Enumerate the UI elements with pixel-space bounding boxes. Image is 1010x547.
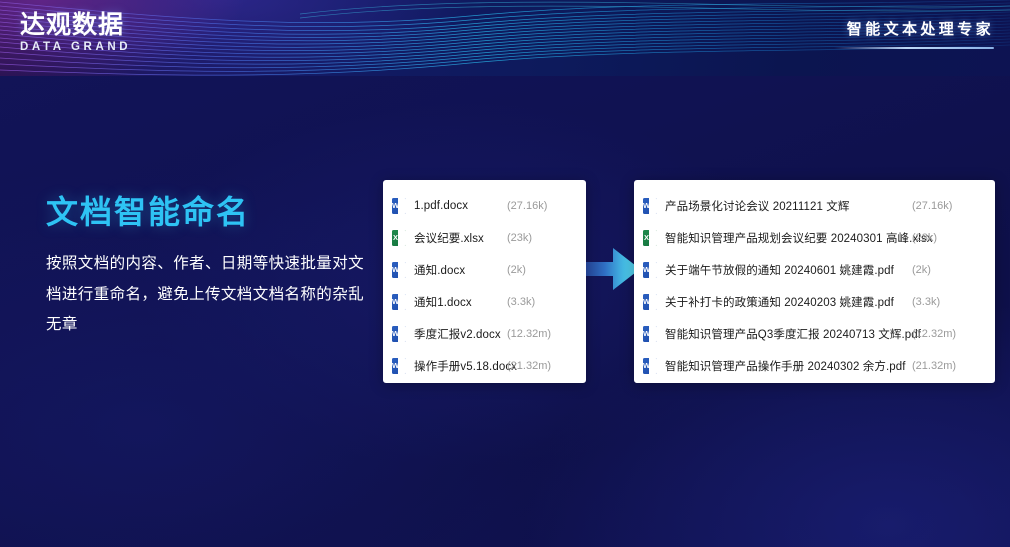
page-title: 文档智能命名 (46, 193, 366, 231)
word-file-icon: W (643, 294, 657, 310)
file-name: 通知1.docx (414, 294, 472, 310)
file-icon-page (649, 294, 657, 310)
file-name: 操作手册v5.18.docx (414, 358, 517, 374)
header-tagline-underline (834, 47, 994, 49)
file-icon-letter: W (643, 198, 650, 214)
brand-logo-en: DATA GRAND (20, 41, 131, 53)
arrow-right-svg (586, 244, 640, 294)
header-tagline: 智能文本处理专家 (834, 18, 994, 49)
file-row[interactable]: W通知.docx(2k) (383, 254, 586, 286)
file-size: (2k) (912, 263, 976, 277)
file-row[interactable]: X智能知识管理产品规划会议纪要 20240301 高峰.xlsx(23k) (634, 222, 995, 254)
file-name: 关于补打卡的政策通知 20240203 姚建霞.pdf (665, 294, 894, 310)
file-size: (3.3k) (507, 295, 571, 309)
file-icon-page (398, 230, 406, 246)
file-list-before-panel[interactable]: W1.pdf.docx(27.16k)X会议纪要.xlsx(23k)W通知.do… (383, 180, 586, 383)
file-icon-page (649, 230, 657, 246)
file-row[interactable]: W智能知识管理产品Q3季度汇报 20240713 文辉.pdf(12.32m) (634, 318, 995, 350)
file-name: 会议纪要.xlsx (414, 230, 484, 246)
excel-file-icon: X (392, 230, 406, 246)
word-file-icon: W (392, 358, 406, 374)
file-row[interactable]: W关于端午节放假的通知 20240601 姚建霞.pdf(2k) (634, 254, 995, 286)
word-file-icon: W (392, 262, 406, 278)
file-icon-letter: W (392, 294, 399, 310)
file-name: 1.pdf.docx (414, 200, 468, 212)
file-size: (23k) (912, 231, 976, 245)
file-icon-page (649, 198, 657, 214)
word-file-icon: W (392, 294, 406, 310)
file-size: (27.16k) (912, 199, 976, 213)
brand-logo-cn: 达观数据 (20, 12, 131, 38)
file-size: (21.32m) (912, 359, 976, 373)
file-icon-page (398, 358, 406, 374)
file-icon-page (398, 198, 406, 214)
file-row[interactable]: X会议纪要.xlsx(23k) (383, 222, 586, 254)
file-icon-page (398, 262, 406, 278)
file-name: 智能知识管理产品规划会议纪要 20240301 高峰.xlsx (665, 230, 933, 246)
file-name: 智能知识管理产品Q3季度汇报 20240713 文辉.pdf (665, 326, 921, 342)
excel-file-icon: X (643, 230, 657, 246)
file-name: 产品场景化讨论会议 20211121 文辉 (665, 198, 849, 214)
file-row[interactable]: W通知1.docx(3.3k) (383, 286, 586, 318)
word-file-icon: W (392, 198, 406, 214)
file-name: 关于端午节放假的通知 20240601 姚建霞.pdf (665, 262, 894, 278)
file-icon-page (398, 326, 406, 342)
file-row[interactable]: W关于补打卡的政策通知 20240203 姚建霞.pdf(3.3k) (634, 286, 995, 318)
word-file-icon: W (643, 326, 657, 342)
file-size: (3.3k) (912, 295, 976, 309)
file-name: 通知.docx (414, 262, 465, 278)
word-file-icon: W (643, 262, 657, 278)
file-icon-letter: W (392, 198, 399, 214)
file-icon-letter: W (643, 294, 650, 310)
file-size: (23k) (507, 231, 571, 245)
slide-root: 达观数据 DATA GRAND 智能文本处理专家 文档智能命名 按照文档的内容、… (0, 0, 1010, 547)
feature-description: 按照文档的内容、作者、日期等快速批量对文档进行重命名，避免上传文档文档名称的杂乱… (46, 249, 366, 340)
file-row[interactable]: W操作手册v5.18.docx(21.32m) (383, 350, 586, 382)
file-icon-letter: W (643, 326, 650, 342)
file-icon-letter: W (643, 262, 650, 278)
slide-header: 达观数据 DATA GRAND 智能文本处理专家 (0, 0, 1010, 76)
file-icon-letter: W (392, 262, 399, 278)
file-icon-letter: W (392, 358, 399, 374)
file-size: (21.32m) (507, 359, 571, 373)
file-icon-letter: X (643, 230, 650, 246)
word-file-icon: W (643, 198, 657, 214)
file-row[interactable]: W1.pdf.docx(27.16k) (383, 190, 586, 222)
file-row[interactable]: W智能知识管理产品操作手册 20240302 余方.pdf(21.32m) (634, 350, 995, 382)
file-icon-page (649, 262, 657, 278)
file-icon-letter: W (392, 326, 399, 342)
file-icon-letter: W (643, 358, 650, 374)
file-name: 智能知识管理产品操作手册 20240302 余方.pdf (665, 358, 906, 374)
file-row[interactable]: W产品场景化讨论会议 20211121 文辉(27.16k) (634, 190, 995, 222)
file-size: (2k) (507, 263, 571, 277)
file-icon-page (649, 326, 657, 342)
feature-copy: 文档智能命名 按照文档的内容、作者、日期等快速批量对文档进行重命名，避免上传文档… (46, 193, 366, 340)
word-file-icon: W (392, 326, 406, 342)
brand-logo: 达观数据 DATA GRAND (20, 12, 131, 53)
header-tagline-text: 智能文本处理专家 (834, 18, 994, 39)
file-size: (12.32m) (507, 327, 571, 341)
file-row[interactable]: W季度汇报v2.docx(12.32m) (383, 318, 586, 350)
file-icon-letter: X (392, 230, 399, 246)
file-size: (27.16k) (507, 199, 571, 213)
word-file-icon: W (643, 358, 657, 374)
arrow-right-icon (586, 244, 640, 294)
file-icon-page (398, 294, 406, 310)
file-size: (12.32m) (912, 327, 976, 341)
file-list-after-panel[interactable]: W产品场景化讨论会议 20211121 文辉(27.16k)X智能知识管理产品规… (634, 180, 995, 383)
file-icon-page (649, 358, 657, 374)
file-name: 季度汇报v2.docx (414, 326, 501, 342)
